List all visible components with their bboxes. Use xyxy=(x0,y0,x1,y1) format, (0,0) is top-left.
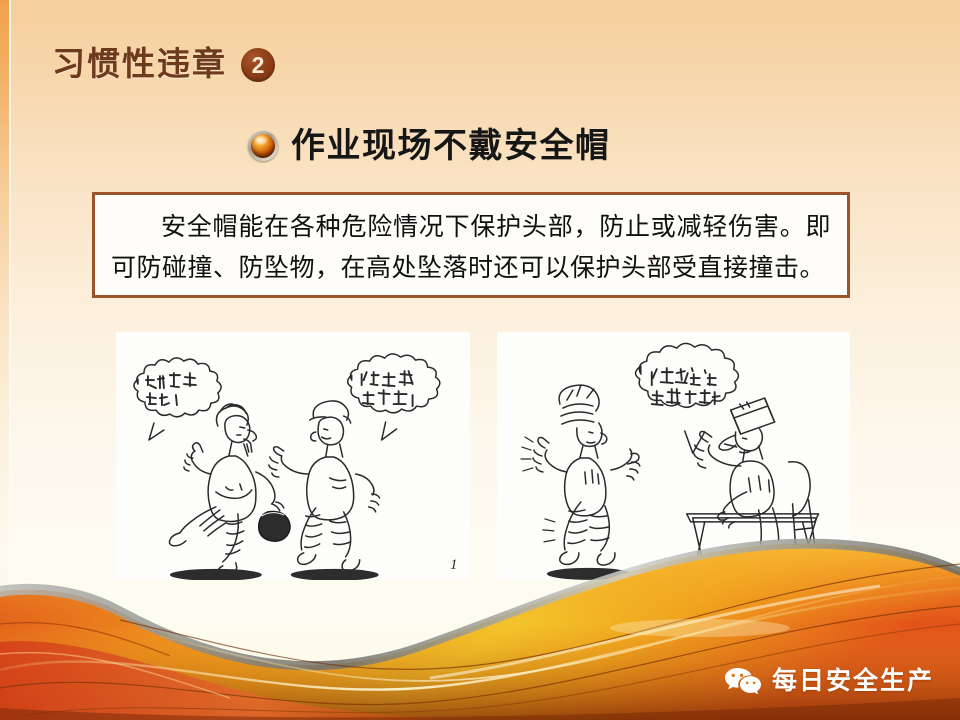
section-number-badge: 2 xyxy=(241,48,275,82)
slide-root: 习惯性违章 2 作业现场不戴安全帽 安全帽能在各种危险情况下保护头部，防止或减轻… xyxy=(0,0,960,720)
left-accent-band xyxy=(0,0,9,600)
wechat-icon xyxy=(724,666,762,696)
watermark: 每日安全生产 xyxy=(724,666,934,696)
left-accent-band-highlight xyxy=(9,0,11,600)
glossy-orange-sphere-icon xyxy=(248,131,278,161)
body-paragraph: 安全帽能在各种危险情况下保护头部，防止或减轻伤害。即可防碰撞、防坠物，在高处坠落… xyxy=(111,207,831,289)
wechat-icon-glyph xyxy=(724,666,762,696)
page-title: 习惯性违章 xyxy=(52,49,227,82)
body-text-box: 安全帽能在各种危险情况下保护头部，防止或减轻伤害。即可防碰撞、防坠物，在高处坠落… xyxy=(92,192,850,298)
subtitle-text: 作业现场不戴安全帽 xyxy=(291,129,611,163)
slide-header: 习惯性违章 2 xyxy=(52,48,275,82)
subtitle-row: 作业现场不戴安全帽 xyxy=(248,129,611,163)
watermark-text: 每日安全生产 xyxy=(772,669,934,694)
